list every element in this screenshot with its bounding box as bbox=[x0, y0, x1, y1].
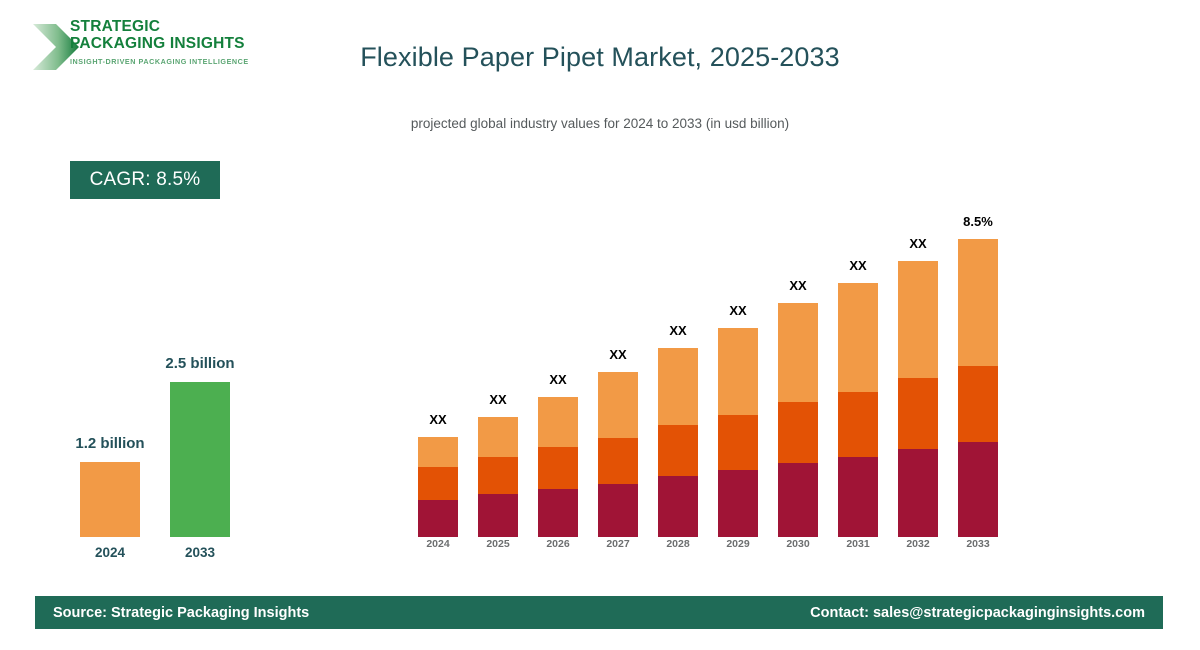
stacked-bar-segment bbox=[838, 392, 878, 457]
stacked-bar bbox=[478, 417, 518, 537]
footer-bar: Source: Strategic Packaging Insights Con… bbox=[35, 596, 1163, 629]
stacked-bar-segment bbox=[838, 283, 878, 392]
stacked-bar-segment bbox=[718, 470, 758, 537]
stacked-bar-segment bbox=[898, 378, 938, 449]
stacked-bar-year: 2026 bbox=[528, 538, 588, 550]
stacked-bar-segment bbox=[418, 500, 458, 537]
stacked-bar-segment bbox=[418, 437, 458, 467]
stacked-bar-segment bbox=[958, 366, 998, 442]
stacked-bar-segment bbox=[718, 328, 758, 415]
stacked-bar bbox=[598, 372, 638, 537]
stacked-bar-segment bbox=[658, 476, 698, 537]
stacked-bar-value-label: XX bbox=[468, 392, 528, 407]
stacked-bar-segment bbox=[478, 457, 518, 494]
stacked-bar-year: 2032 bbox=[888, 538, 948, 550]
stacked-bar-segment bbox=[718, 415, 758, 470]
stacked-bar-segment bbox=[658, 425, 698, 476]
stacked-bar-value-label: 8.5% bbox=[948, 214, 1008, 229]
stacked-bar-year: 2024 bbox=[408, 538, 468, 550]
stacked-bar-value-label: XX bbox=[708, 303, 768, 318]
stacked-bar-segment bbox=[598, 438, 638, 484]
stacked-bar-year: 2029 bbox=[708, 538, 768, 550]
stacked-bar-segment bbox=[418, 467, 458, 500]
stacked-bar bbox=[658, 348, 698, 537]
stacked-bar-year: 2030 bbox=[768, 538, 828, 550]
stacked-bar-segment bbox=[958, 442, 998, 537]
stacked-bar-year: 2027 bbox=[588, 538, 648, 550]
stacked-bar-year: 2031 bbox=[828, 538, 888, 550]
stacked-bar bbox=[718, 328, 758, 537]
stacked-bar bbox=[898, 261, 938, 537]
stacked-bar-value-label: XX bbox=[528, 372, 588, 387]
footer-source: Source: Strategic Packaging Insights bbox=[53, 605, 309, 621]
stacked-bar-segment bbox=[838, 457, 878, 537]
segmented-forecast-chart: XX2024XX2025XX2026XX2027XX2028XX2029XX20… bbox=[0, 0, 1200, 650]
stacked-bar-value-label: XX bbox=[768, 278, 828, 293]
stacked-bar-segment bbox=[538, 447, 578, 489]
stacked-bar bbox=[838, 283, 878, 537]
stacked-bar-value-label: XX bbox=[648, 323, 708, 338]
stacked-bar-segment bbox=[598, 484, 638, 537]
stacked-bar bbox=[538, 397, 578, 537]
stacked-bar-segment bbox=[598, 372, 638, 438]
stacked-bar-value-label: XX bbox=[408, 412, 468, 427]
stacked-bar-segment bbox=[538, 489, 578, 537]
stacked-bar-segment bbox=[478, 494, 518, 537]
stacked-bar-segment bbox=[898, 261, 938, 378]
stacked-bar-segment bbox=[478, 417, 518, 457]
stacked-bar-year: 2028 bbox=[648, 538, 708, 550]
stacked-bar-segment bbox=[778, 402, 818, 463]
stacked-bar-segment bbox=[658, 348, 698, 425]
stacked-bar bbox=[778, 303, 818, 537]
stacked-bar-segment bbox=[958, 239, 998, 366]
stacked-bar bbox=[958, 239, 998, 537]
stacked-bar-segment bbox=[898, 449, 938, 537]
stacked-bar-value-label: XX bbox=[828, 258, 888, 273]
stacked-bar-value-label: XX bbox=[888, 236, 948, 251]
footer-contact: Contact: sales@strategicpackaginginsight… bbox=[810, 605, 1145, 621]
stacked-bar bbox=[418, 437, 458, 537]
stacked-bar-year: 2033 bbox=[948, 538, 1008, 550]
stacked-bar-year: 2025 bbox=[468, 538, 528, 550]
infographic-canvas: STRATEGIC PACKAGING INSIGHTS INSIGHT-DRI… bbox=[0, 0, 1200, 650]
stacked-bar-segment bbox=[778, 303, 818, 402]
stacked-bar-value-label: XX bbox=[588, 347, 648, 362]
stacked-bar-segment bbox=[778, 463, 818, 537]
stacked-bar-segment bbox=[538, 397, 578, 447]
